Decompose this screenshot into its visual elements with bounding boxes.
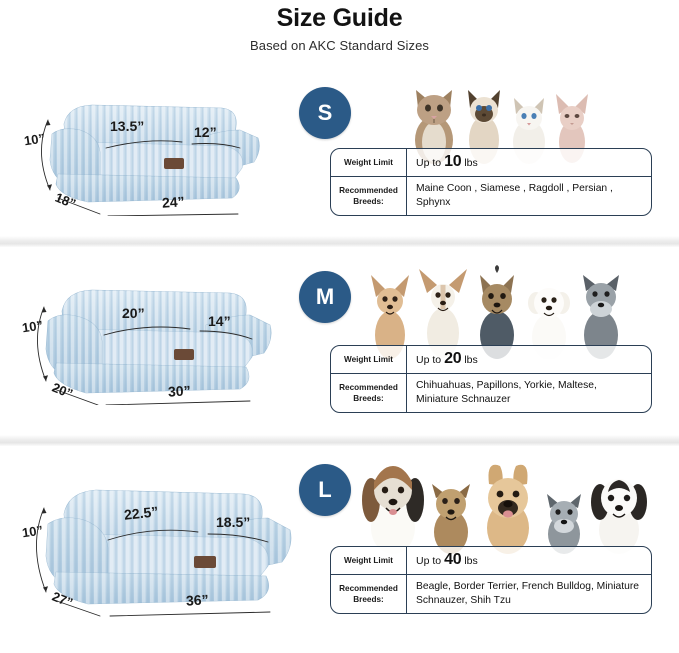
spec-table-medium: Weight Limit Up to 20 lbs Recommended Br… <box>330 345 652 413</box>
beagle-dog-photo <box>362 452 424 554</box>
pet-photos-large <box>362 450 648 554</box>
dim-inner-depth-medium: 14” <box>208 313 231 329</box>
weight-number-small: 10 <box>444 155 461 169</box>
dim-height-large: 10” <box>21 523 44 541</box>
size-badge-small: S <box>299 87 351 139</box>
weight-limit-label: Weight Limit <box>331 149 407 176</box>
french-bulldog-photo <box>478 454 538 554</box>
up-to-text: Up to <box>416 156 441 170</box>
brand-tag-icon <box>164 158 184 169</box>
spec-table-large: Weight Limit Up to 40 lbs Recommended Br… <box>330 546 652 614</box>
brand-tag-icon <box>174 349 194 360</box>
up-to-text: Up to <box>416 353 441 367</box>
recommended-breeds-label: Recommended Breeds: <box>331 374 407 412</box>
spec-table-small: Weight Limit Up to 10 lbs Recommended Br… <box>330 148 652 216</box>
shih-tzu-dog-photo <box>590 458 648 554</box>
page-subtitle: Based on AKC Standard Sizes <box>0 33 679 55</box>
weight-number-medium: 20 <box>444 352 461 366</box>
brand-tag-icon <box>194 556 216 568</box>
dim-width-large: 36” <box>186 591 209 608</box>
bed-illustration-large: 10” 22.5” 18.5” 27” 36” <box>22 472 312 617</box>
table-row-weight-large: Weight Limit Up to 40 lbs <box>331 547 651 574</box>
size-section-small: 10” 13.5” 12” 18” 24” S <box>0 62 679 237</box>
size-section-large: 10” 22.5” 18.5” 27” 36” L <box>0 446 679 646</box>
section-divider-2 <box>0 435 679 446</box>
dim-inner-depth-small: 12” <box>194 124 217 140</box>
table-row-breeds-small: Recommended Breeds: Maine Coon , Siamese… <box>331 176 651 215</box>
weight-limit-value-large: Up to 40 lbs <box>407 547 651 574</box>
weight-limit-label: Weight Limit <box>331 346 407 373</box>
weight-limit-value-small: Up to 10 lbs <box>407 149 651 176</box>
section-divider-1 <box>0 236 679 247</box>
size-section-medium: 10” 20” 14” 20” 30” M <box>0 247 679 436</box>
dim-inner-width-medium: 20” <box>122 305 145 321</box>
page-title: Size Guide <box>0 0 679 33</box>
recommended-breeds-label: Recommended Breeds: <box>331 575 407 613</box>
dim-width-small: 24” <box>161 193 185 211</box>
dim-inner-depth-large: 18.5” <box>216 514 250 530</box>
breeds-value-large: Beagle, Border Terrier, French Bulldog, … <box>407 575 651 613</box>
table-row-breeds-large: Recommended Breeds: Beagle, Border Terri… <box>331 574 651 613</box>
table-row-weight-small: Weight Limit Up to 10 lbs <box>331 149 651 176</box>
weight-unit: lbs <box>464 156 477 170</box>
breeds-value-medium: Chihuahuas, Papillons, Yorkie, Maltese, … <box>407 374 651 412</box>
weight-limit-label: Weight Limit <box>331 547 407 574</box>
table-row-weight-medium: Weight Limit Up to 20 lbs <box>331 346 651 373</box>
bed-illustration-medium: 10” 20” 14” 20” 30” <box>22 275 290 405</box>
size-badge-medium: M <box>299 271 351 323</box>
weight-unit: lbs <box>464 554 477 568</box>
size-badge-large: L <box>299 464 351 516</box>
breeds-value-small: Maine Coon , Siamese , Ragdoll , Persian… <box>407 177 651 215</box>
weight-number-large: 40 <box>444 553 461 567</box>
dim-height-medium: 10” <box>21 318 44 336</box>
size-guide-page: Size Guide Based on AKC Standard Sizes <box>0 0 679 653</box>
up-to-text: Up to <box>416 554 441 568</box>
dim-height-small: 10” <box>23 131 46 149</box>
schnauzer-dog-photo <box>540 474 588 554</box>
weight-limit-value-medium: Up to 20 lbs <box>407 346 651 373</box>
page-header: Size Guide Based on AKC Standard Sizes <box>0 0 679 55</box>
dim-width-medium: 30” <box>168 382 191 399</box>
border-terrier-dog-photo <box>426 468 476 554</box>
weight-unit: lbs <box>464 353 477 367</box>
recommended-breeds-label: Recommended Breeds: <box>331 177 407 215</box>
dim-inner-width-small: 13.5” <box>110 118 144 134</box>
bed-illustration-small: 10” 13.5” 12” 18” 24” <box>22 86 282 216</box>
table-row-breeds-medium: Recommended Breeds: Chihuahuas, Papillon… <box>331 373 651 412</box>
